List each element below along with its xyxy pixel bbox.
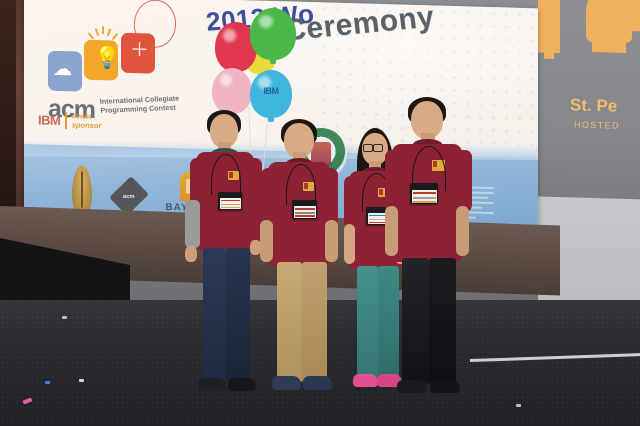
forearm-right	[456, 206, 469, 256]
forearm-left	[385, 206, 398, 256]
icpc-line2: Programming Contest	[100, 103, 180, 115]
divider	[65, 112, 67, 129]
shoe-right	[228, 378, 256, 391]
shoe-right	[303, 376, 332, 390]
confetti-blue	[45, 381, 50, 384]
undershirt-sleeve-left	[185, 200, 200, 248]
shoe-left	[353, 374, 378, 387]
hosted-by-text: HOSTED	[574, 119, 620, 130]
leg-left	[203, 248, 226, 382]
ibm-logo: IBM	[38, 112, 60, 128]
right-sleeve	[318, 168, 338, 226]
attendee-badge	[218, 192, 242, 210]
apple-tile-icon: ＋	[121, 33, 155, 74]
forearm-left	[344, 224, 355, 264]
left-sleeve	[385, 150, 407, 212]
leg-right	[378, 266, 399, 380]
host-city-text: St. Pe	[570, 95, 617, 116]
forearm-right	[325, 220, 338, 262]
balloon-ibm-mark: IBM	[250, 86, 292, 96]
leg-left	[402, 258, 429, 384]
diamond-logo-label: acm	[123, 192, 135, 199]
shoe-left	[198, 378, 226, 391]
shoe-right	[430, 380, 460, 393]
confetti-white	[516, 404, 521, 407]
photo-scene: St. Pe HOSTED 2013 Wo Aw Ceremony	[0, 0, 640, 426]
shoe-left	[397, 380, 427, 393]
leg-right	[302, 262, 327, 382]
cloud-tile-icon: ☁	[48, 51, 82, 92]
forearm-left	[260, 220, 273, 262]
hand-left	[185, 246, 197, 262]
sponsor-role-line2: sponsor	[72, 120, 102, 130]
leg-left	[277, 262, 302, 382]
confetti-white	[79, 379, 84, 382]
lightbulb-tile-icon: 💡	[84, 40, 118, 81]
leg-right	[429, 258, 456, 384]
confetti-white	[62, 316, 67, 319]
right-sleeve	[450, 150, 472, 212]
balloon-pink	[212, 68, 252, 114]
leg-left	[357, 266, 378, 380]
right-projection-screen: St. Pe HOSTED	[536, 0, 640, 200]
attendee-badge	[292, 200, 317, 219]
st-petersburg-skyline-icon	[536, 0, 640, 90]
light-rays-icon	[90, 26, 116, 41]
balloon-cyan: IBM	[250, 70, 292, 118]
leg-right	[226, 248, 250, 382]
shoe-left	[272, 376, 301, 390]
attendee-badge	[410, 183, 438, 204]
ibm-sponsor-block: IBM event sponsor	[38, 110, 101, 130]
left-sleeve	[261, 168, 281, 226]
balloon-green	[250, 8, 296, 60]
left-pillar-edge	[0, 0, 16, 230]
glasses-icon	[363, 144, 387, 151]
left-sleeve	[344, 176, 361, 228]
